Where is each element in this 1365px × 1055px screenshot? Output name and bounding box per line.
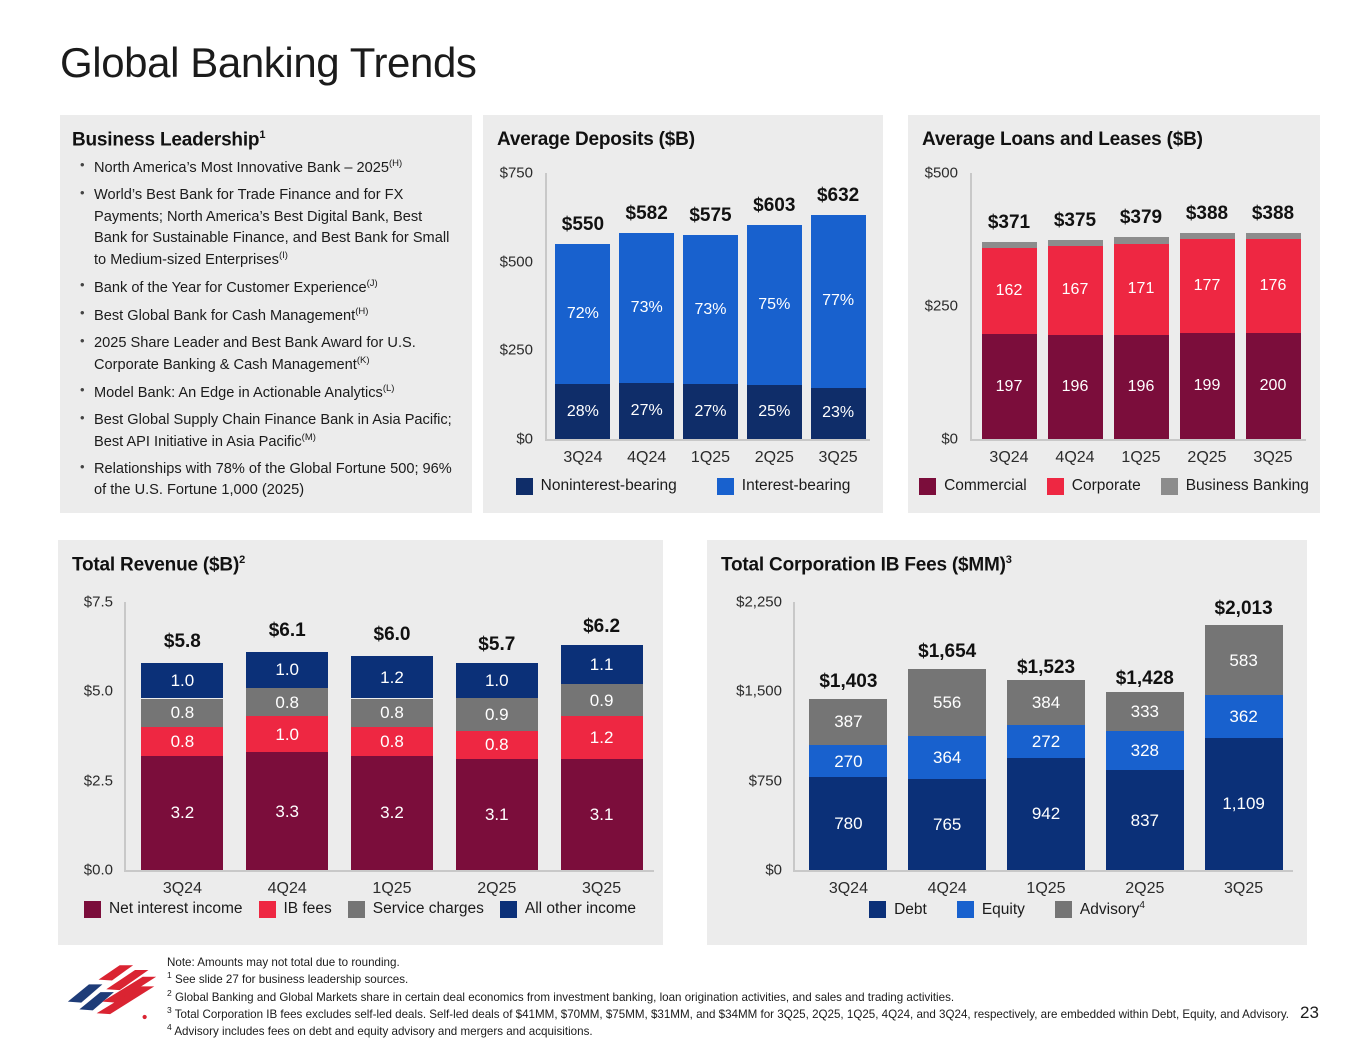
revenue-y-tick-label: $7.5 xyxy=(84,594,113,611)
bar-total-label: $2,013 xyxy=(1215,598,1273,620)
bar-group: 196171$379 xyxy=(1114,237,1169,439)
bar-segment-value: 387 xyxy=(834,713,862,730)
legend-swatch xyxy=(1047,478,1064,495)
bar-segment-value: 27% xyxy=(631,403,663,419)
bar-segment-value: 942 xyxy=(1032,805,1060,822)
ibfees-chart-title-footnote-marker: 3 xyxy=(1006,554,1012,566)
bar-segment: 176 xyxy=(1246,239,1301,333)
deposits-y-axis-line xyxy=(545,173,547,441)
bar-segment-value: 72% xyxy=(567,306,599,322)
bar-group: 25%75%$603 xyxy=(747,225,802,439)
leadership-bullet-text: Best Global Bank for Cash Management xyxy=(94,308,355,324)
bar-group: 200176$388 xyxy=(1246,233,1301,439)
bar-total-label: $603 xyxy=(753,195,795,217)
bar-segment-value: 333 xyxy=(1131,703,1159,720)
page-title: Global Banking Trends xyxy=(60,40,477,86)
leadership-bullet-text: 2025 Share Leader and Best Bank Award fo… xyxy=(94,335,416,373)
bar-segment-value: 199 xyxy=(1194,378,1221,394)
legend-item: All other income xyxy=(500,900,636,918)
bar-segment-value: 28% xyxy=(567,404,599,420)
revenue-legend: Net interest incomeIB feesService charge… xyxy=(64,900,656,918)
bar-segment-value: 1.0 xyxy=(171,672,195,689)
legend-swatch xyxy=(717,478,734,495)
legend-footnote-marker: 4 xyxy=(1139,900,1145,911)
x-axis-category-label: 3Q25 xyxy=(1253,449,1292,467)
footnote-3-marker: 3 xyxy=(167,1005,172,1015)
bar-segment: 27% xyxy=(683,384,738,439)
bar-segment-value: 362 xyxy=(1229,708,1257,725)
legend-swatch xyxy=(957,901,974,918)
bar-segment-value: 3.1 xyxy=(590,806,614,823)
bar-total-label: $5.8 xyxy=(164,631,201,653)
bar-segment-value: 200 xyxy=(1260,378,1287,394)
bar-total-label: $5.7 xyxy=(478,634,515,656)
loans-legend: CommercialCorporateBusiness Banking xyxy=(912,477,1316,495)
bar-total-label: $379 xyxy=(1120,207,1162,229)
bar-segment: 196 xyxy=(1048,335,1103,439)
bar-segment xyxy=(1246,233,1301,239)
leadership-bullet-source-marker: (I) xyxy=(279,250,288,261)
business-leadership-title-text: Business Leadership xyxy=(72,129,259,150)
loans-y-tick-label: $500 xyxy=(925,165,958,182)
bar-segment-value: 3.1 xyxy=(485,806,509,823)
bar-segment: 765 xyxy=(908,779,986,870)
x-axis-category-label: 3Q25 xyxy=(819,449,858,467)
bar-segment-value: 583 xyxy=(1229,652,1257,669)
leadership-bullet-source-marker: (H) xyxy=(355,306,368,317)
footnote-1-marker: 1 xyxy=(167,970,172,980)
bar-total-label: $1,428 xyxy=(1116,668,1174,690)
x-axis-category-label: 1Q25 xyxy=(691,449,730,467)
bar-segment-value: 0.8 xyxy=(171,733,195,750)
leadership-bullet-text: North America’s Most Innovative Bank – 2… xyxy=(94,160,389,176)
bar-total-label: $371 xyxy=(988,212,1030,234)
x-axis-category-label: 3Q24 xyxy=(163,880,202,898)
bar-segment: 23% xyxy=(811,388,866,439)
average-deposits-panel: Average Deposits ($B)$0$250$500$75028%72… xyxy=(483,115,883,513)
revenue-x-axis-line xyxy=(124,870,654,872)
bar-segment-value: 197 xyxy=(996,379,1023,395)
bar-total-label: $6.1 xyxy=(269,620,306,642)
bar-group: 3.20.80.81.0$5.8 xyxy=(141,663,223,870)
bar-group: 765364556$1,654 xyxy=(908,673,986,870)
leadership-bullet-source-marker: (M) xyxy=(302,432,316,443)
bar-segment-value: 0.9 xyxy=(590,692,614,709)
footnote-4: 4 Advisory includes fees on debt and equ… xyxy=(167,1022,1297,1039)
deposits-chart-title: Average Deposits ($B) xyxy=(497,129,695,151)
legend-item: Debt xyxy=(869,901,927,919)
legend-item: Corporate xyxy=(1047,477,1141,495)
bar-segment-value: 77% xyxy=(822,293,854,309)
x-axis-category-label: 2Q25 xyxy=(477,880,516,898)
bar-segment-value: 0.8 xyxy=(380,704,404,721)
bar-segment-value: 1.1 xyxy=(590,656,614,673)
legend-swatch xyxy=(84,901,101,918)
bar-segment: 73% xyxy=(683,235,738,384)
business-leadership-list: North America’s Most Innovative Bank – 2… xyxy=(78,157,458,501)
bar-group: 3.10.80.91.0$5.7 xyxy=(456,666,538,870)
loans-chart-title-text: Average Loans and Leases ($B) xyxy=(922,129,1203,150)
leadership-bullet-source-marker: (J) xyxy=(367,278,378,289)
bar-segment: 1.0 xyxy=(141,663,223,699)
bar-segment: 72% xyxy=(555,244,610,384)
bar-segment: 270 xyxy=(809,745,887,777)
ibfees-y-axis: $0$750$1,500$2,250 xyxy=(707,602,782,870)
x-axis-category-label: 1Q25 xyxy=(1121,449,1160,467)
bar-group: 27%73%$582 xyxy=(619,233,674,439)
leadership-bullet: North America’s Most Innovative Bank – 2… xyxy=(78,157,458,179)
bar-segment: 837 xyxy=(1106,770,1184,870)
footnote-3: 3 Total Corporation IB fees excludes sel… xyxy=(167,1005,1297,1022)
legend-swatch xyxy=(348,901,365,918)
bar-segment: 0.8 xyxy=(351,727,433,756)
page-number: 23 xyxy=(1300,1003,1319,1023)
bar-segment: 27% xyxy=(619,383,674,439)
revenue-y-tick-label: $2.5 xyxy=(84,772,113,789)
bar-segment: 3.1 xyxy=(456,759,538,870)
leadership-bullet: Bank of the Year for Customer Experience… xyxy=(78,277,458,299)
bar-group: 1,109362583$2,013 xyxy=(1205,630,1283,870)
legend-swatch xyxy=(869,901,886,918)
legend-label: Commercial xyxy=(944,477,1027,495)
deposits-y-tick-label: $250 xyxy=(500,342,533,359)
x-axis-category-label: 3Q25 xyxy=(1224,880,1263,898)
bar-segment: 1.0 xyxy=(456,663,538,699)
bar-total-label: $6.2 xyxy=(583,616,620,638)
deposits-y-tick-label: $0 xyxy=(516,431,533,448)
ibfees-y-tick-label: $750 xyxy=(749,772,782,789)
legend-label: Corporate xyxy=(1072,477,1141,495)
legend-label: Advisory4 xyxy=(1080,900,1145,919)
bar-segment-value: 384 xyxy=(1032,694,1060,711)
bar-segment-value: 0.8 xyxy=(485,736,509,753)
bar-segment: 0.9 xyxy=(456,698,538,730)
bar-segment: 0.9 xyxy=(561,684,643,716)
bar-segment-value: 171 xyxy=(1128,281,1155,297)
leadership-bullet-source-marker: (H) xyxy=(389,158,402,169)
revenue-y-tick-label: $5.0 xyxy=(84,683,113,700)
bar-segment xyxy=(1114,237,1169,243)
legend-item: Equity xyxy=(957,901,1025,919)
bar-segment: 942 xyxy=(1007,758,1085,870)
leadership-bullet: Best Global Bank for Cash Management(H) xyxy=(78,305,458,327)
bar-total-label: $375 xyxy=(1054,210,1096,232)
bar-segment-value: 162 xyxy=(996,283,1023,299)
legend-item: Business Banking xyxy=(1161,477,1309,495)
legend-item: Commercial xyxy=(919,477,1027,495)
bar-segment-value: 196 xyxy=(1128,379,1155,395)
bar-group: 27%73%$575 xyxy=(683,235,738,439)
legend-swatch xyxy=(919,478,936,495)
bar-segment: 0.8 xyxy=(246,688,328,717)
revenue-y-tick-label: $0.0 xyxy=(84,862,113,879)
slide-root: Global Banking Trends Business Leadershi… xyxy=(0,0,1365,1055)
legend-swatch xyxy=(1055,901,1072,918)
bar-segment: 199 xyxy=(1180,333,1235,439)
bar-segment: 0.8 xyxy=(351,699,433,728)
footnote-4-marker: 4 xyxy=(167,1022,172,1032)
x-axis-category-label: 4Q24 xyxy=(1055,449,1094,467)
bar-segment-value: 25% xyxy=(758,404,790,420)
legend-swatch xyxy=(259,901,276,918)
bar-segment: 1.0 xyxy=(246,716,328,752)
bar-segment-value: 364 xyxy=(933,749,961,766)
legend-item: Interest-bearing xyxy=(717,477,851,495)
bar-segment: 0.8 xyxy=(456,731,538,760)
total-revenue-panel: Total Revenue ($B)2$0.0$2.5$5.0$7.53.20.… xyxy=(58,540,663,945)
bar-total-label: $575 xyxy=(689,205,731,227)
leadership-bullet-text: Model Bank: An Edge in Actionable Analyt… xyxy=(94,385,383,401)
deposits-x-axis-line xyxy=(545,439,870,441)
bar-total-label: $632 xyxy=(817,185,859,207)
total-ib-fees-panel: Total Corporation IB Fees ($MM)3$0$750$1… xyxy=(707,540,1307,945)
bar-segment-value: 0.9 xyxy=(485,706,509,723)
x-axis-category-label: 3Q24 xyxy=(829,880,868,898)
footnote-2: 2 Global Banking and Global Markets shar… xyxy=(167,988,1297,1005)
bar-segment xyxy=(1048,240,1103,246)
footnotes: Note: Amounts may not total due to round… xyxy=(167,955,1297,1039)
x-axis-category-label: 3Q24 xyxy=(563,449,602,467)
bar-total-label: $388 xyxy=(1186,203,1228,225)
leadership-bullet: 2025 Share Leader and Best Bank Award fo… xyxy=(78,333,458,376)
loans-chart-title: Average Loans and Leases ($B) xyxy=(922,129,1203,151)
footnote-marker-1: 1 xyxy=(259,129,265,141)
bar-group: 3.31.00.81.0$6.1 xyxy=(246,652,328,870)
legend-swatch xyxy=(516,478,533,495)
bar-segment: 0.8 xyxy=(141,727,223,756)
legend-item: Service charges xyxy=(348,900,484,918)
bar-segment-value: 780 xyxy=(834,815,862,832)
leadership-bullet-text: Best Global Supply Chain Finance Bank in… xyxy=(94,412,452,450)
deposits-y-axis: $0$250$500$750 xyxy=(483,173,533,439)
bar-segment: 197 xyxy=(982,334,1037,439)
bar-segment-value: 73% xyxy=(631,300,663,316)
bar-segment-value: 1.0 xyxy=(275,726,299,743)
x-axis-category-label: 3Q25 xyxy=(582,880,621,898)
bar-total-label: $550 xyxy=(562,214,604,236)
bar-segment-value: 556 xyxy=(933,694,961,711)
deposits-y-tick-label: $750 xyxy=(500,165,533,182)
bar-total-label: $1,403 xyxy=(819,671,877,693)
bar-segment-value: 837 xyxy=(1131,812,1159,829)
bar-segment-value: 3.3 xyxy=(275,803,299,820)
loans-y-tick-label: $250 xyxy=(925,298,958,315)
leadership-bullet-text: Bank of the Year for Customer Experience xyxy=(94,280,367,296)
bar-segment: 364 xyxy=(908,736,986,779)
loans-y-axis: $0$250$500 xyxy=(908,173,958,439)
bar-segment-value: 1.0 xyxy=(275,661,299,678)
bar-segment-value: 196 xyxy=(1062,379,1089,395)
legend-swatch xyxy=(1161,478,1178,495)
bar-segment: 1.2 xyxy=(351,656,433,699)
bar-group: 780270387$1,403 xyxy=(809,703,887,870)
leadership-bullet: World’s Best Bank for Trade Finance and … xyxy=(78,185,458,270)
loans-plot-area: 197162$3713Q24196167$3754Q24196171$3791Q… xyxy=(970,173,1306,441)
legend-label: IB fees xyxy=(284,900,332,918)
bar-segment-value: 1.2 xyxy=(380,669,404,686)
leadership-bullet: Model Bank: An Edge in Actionable Analyt… xyxy=(78,382,458,404)
ibfees-x-axis-line xyxy=(793,870,1293,872)
footnote-1-text: See slide 27 for business leadership sou… xyxy=(175,973,408,986)
bar-segment: 200 xyxy=(1246,333,1301,439)
ibfees-legend: DebtEquityAdvisory4 xyxy=(713,900,1301,919)
legend-label: Noninterest-bearing xyxy=(541,477,677,495)
leadership-bullet: Relationships with 78% of the Global For… xyxy=(78,459,458,501)
ibfees-chart-title-text: Total Corporation IB Fees ($MM) xyxy=(721,554,1006,575)
deposits-y-tick-label: $500 xyxy=(500,253,533,270)
bar-segment: 28% xyxy=(555,384,610,439)
bar-segment-value: 272 xyxy=(1032,733,1060,750)
bar-segment: 362 xyxy=(1205,695,1283,738)
loans-y-tick-label: $0 xyxy=(941,431,958,448)
ibfees-y-tick-label: $2,250 xyxy=(736,594,782,611)
bar-segment xyxy=(1180,233,1235,239)
legend-item: Advisory4 xyxy=(1055,900,1145,919)
bar-segment-value: 27% xyxy=(694,404,726,420)
footnote-note: Note: Amounts may not total due to round… xyxy=(167,955,1297,970)
legend-label: Interest-bearing xyxy=(742,477,851,495)
x-axis-category-label: 1Q25 xyxy=(1026,880,1065,898)
bar-segment: 162 xyxy=(982,248,1037,334)
bar-segment-value: 0.8 xyxy=(171,704,195,721)
bar-segment-value: 23% xyxy=(822,405,854,421)
bar-segment-value: 75% xyxy=(758,297,790,313)
bar-segment: 3.2 xyxy=(141,756,223,870)
legend-label: Net interest income xyxy=(109,900,243,918)
bar-segment: 556 xyxy=(908,669,986,735)
bar-segment: 1.0 xyxy=(246,652,328,688)
legend-label: Debt xyxy=(894,901,927,919)
deposits-chart-title-text: Average Deposits ($B) xyxy=(497,129,695,150)
business-leadership-title: Business Leadership1 xyxy=(72,129,472,151)
footnote-3-text: Total Corporation IB fees excludes self-… xyxy=(175,1008,1289,1021)
x-axis-category-label: 1Q25 xyxy=(372,880,411,898)
bar-segment-value: 167 xyxy=(1062,282,1089,298)
legend-label: All other income xyxy=(525,900,636,918)
bar-group: 23%77%$632 xyxy=(811,215,866,439)
bar-group: 199177$388 xyxy=(1180,233,1235,439)
legend-swatch xyxy=(500,901,517,918)
legend-label: Equity xyxy=(982,901,1025,919)
revenue-chart-title: Total Revenue ($B)2 xyxy=(72,554,245,576)
bar-group: 3.20.80.81.2$6.0 xyxy=(351,656,433,870)
bar-segment: 387 xyxy=(809,699,887,745)
bar-segment: 780 xyxy=(809,777,887,870)
bar-segment-value: 1,109 xyxy=(1222,795,1265,812)
bar-segment: 1.2 xyxy=(561,716,643,759)
loans-y-axis-line xyxy=(970,173,972,441)
bar-segment-value: 270 xyxy=(834,753,862,770)
bar-segment xyxy=(982,242,1037,248)
bar-segment: 3.2 xyxy=(351,756,433,870)
revenue-y-axis: $0.0$2.5$5.0$7.5 xyxy=(58,602,113,870)
bar-segment-value: 3.2 xyxy=(171,804,195,821)
bar-segment: 25% xyxy=(747,385,802,439)
bar-total-label: $6.0 xyxy=(374,624,411,646)
legend-item: Noninterest-bearing xyxy=(516,477,677,495)
bar-segment: 171 xyxy=(1114,244,1169,335)
ibfees-chart-title: Total Corporation IB Fees ($MM)3 xyxy=(721,554,1012,576)
x-axis-category-label: 4Q24 xyxy=(268,880,307,898)
ibfees-y-tick-label: $0 xyxy=(765,862,782,879)
leadership-bullet: Best Global Supply Chain Finance Bank in… xyxy=(78,410,458,453)
revenue-chart-title-footnote-marker: 2 xyxy=(239,554,245,566)
loans-x-axis-line xyxy=(970,439,1306,441)
bar-group: 837328333$1,428 xyxy=(1106,700,1184,870)
bar-group: 942272384$1,523 xyxy=(1007,689,1085,870)
x-axis-category-label: 4Q24 xyxy=(627,449,666,467)
x-axis-category-label: 4Q24 xyxy=(928,880,967,898)
ibfees-y-axis-line xyxy=(793,602,795,872)
x-axis-category-label: 3Q24 xyxy=(989,449,1028,467)
ibfees-y-tick-label: $1,500 xyxy=(736,683,782,700)
legend-item: Net interest income xyxy=(84,900,243,918)
bar-segment: 328 xyxy=(1106,731,1184,770)
bar-segment-value: 765 xyxy=(933,816,961,833)
business-leadership-panel: Business Leadership1 North America’s Mos… xyxy=(60,115,472,513)
bar-group: 196167$375 xyxy=(1048,240,1103,440)
bar-group: 197162$371 xyxy=(982,242,1037,439)
revenue-chart-title-text: Total Revenue ($B) xyxy=(72,554,239,575)
bar-segment-value: 1.0 xyxy=(485,672,509,689)
legend-label: Service charges xyxy=(373,900,484,918)
bar-segment: 196 xyxy=(1114,335,1169,439)
bar-segment-value: 3.2 xyxy=(380,804,404,821)
revenue-y-axis-line xyxy=(124,602,126,872)
bar-segment: 77% xyxy=(811,215,866,388)
bar-group: 28%72%$550 xyxy=(555,244,610,439)
x-axis-category-label: 2Q25 xyxy=(755,449,794,467)
leadership-bullet-text: World’s Best Bank for Trade Finance and … xyxy=(94,187,449,267)
bar-total-label: $1,654 xyxy=(918,641,976,663)
legend-label: Business Banking xyxy=(1186,477,1309,495)
footnote-2-marker: 2 xyxy=(167,988,172,998)
bar-segment-value: 1.2 xyxy=(590,729,614,746)
bar-total-label: $1,523 xyxy=(1017,657,1075,679)
leadership-bullet-source-marker: (K) xyxy=(357,355,370,366)
footnote-4-text: Advisory includes fees on debt and equit… xyxy=(174,1025,592,1038)
average-loans-panel: Average Loans and Leases ($B)$0$250$5001… xyxy=(908,115,1320,513)
legend-item: IB fees xyxy=(259,900,332,918)
ibfees-plot-area: 780270387$1,4033Q24765364556$1,6544Q2494… xyxy=(793,602,1293,872)
bar-segment: 1.1 xyxy=(561,645,643,684)
bar-segment-value: 0.8 xyxy=(275,694,299,711)
revenue-plot-area: 3.20.80.81.0$5.83Q243.31.00.81.0$6.14Q24… xyxy=(124,602,654,872)
bar-segment: 583 xyxy=(1205,625,1283,694)
bar-segment: 75% xyxy=(747,225,802,385)
bar-segment-value: 176 xyxy=(1260,278,1287,294)
bar-segment-value: 73% xyxy=(694,302,726,318)
bank-logo xyxy=(64,963,160,1025)
bar-segment-value: 177 xyxy=(1194,278,1221,294)
x-axis-category-label: 2Q25 xyxy=(1187,449,1226,467)
bar-segment: 3.3 xyxy=(246,752,328,870)
leadership-bullet-source-marker: (L) xyxy=(383,383,395,394)
bar-segment: 272 xyxy=(1007,725,1085,757)
deposits-plot-area: 28%72%$5503Q2427%73%$5824Q2427%73%$5751Q… xyxy=(545,173,870,441)
x-axis-category-label: 2Q25 xyxy=(1125,880,1164,898)
deposits-legend: Noninterest-bearingInterest-bearing xyxy=(493,477,873,495)
bar-group: 3.11.20.91.1$6.2 xyxy=(561,648,643,870)
footnote-2-text: Global Banking and Global Markets share … xyxy=(175,991,954,1004)
bar-segment: 0.8 xyxy=(141,699,223,728)
footnote-1: 1 See slide 27 for business leadership s… xyxy=(167,970,1297,987)
bar-segment: 177 xyxy=(1180,239,1235,333)
bar-segment: 1,109 xyxy=(1205,738,1283,870)
bar-segment-value: 328 xyxy=(1131,742,1159,759)
bar-total-label: $582 xyxy=(626,203,668,225)
bar-total-label: $388 xyxy=(1252,203,1294,225)
